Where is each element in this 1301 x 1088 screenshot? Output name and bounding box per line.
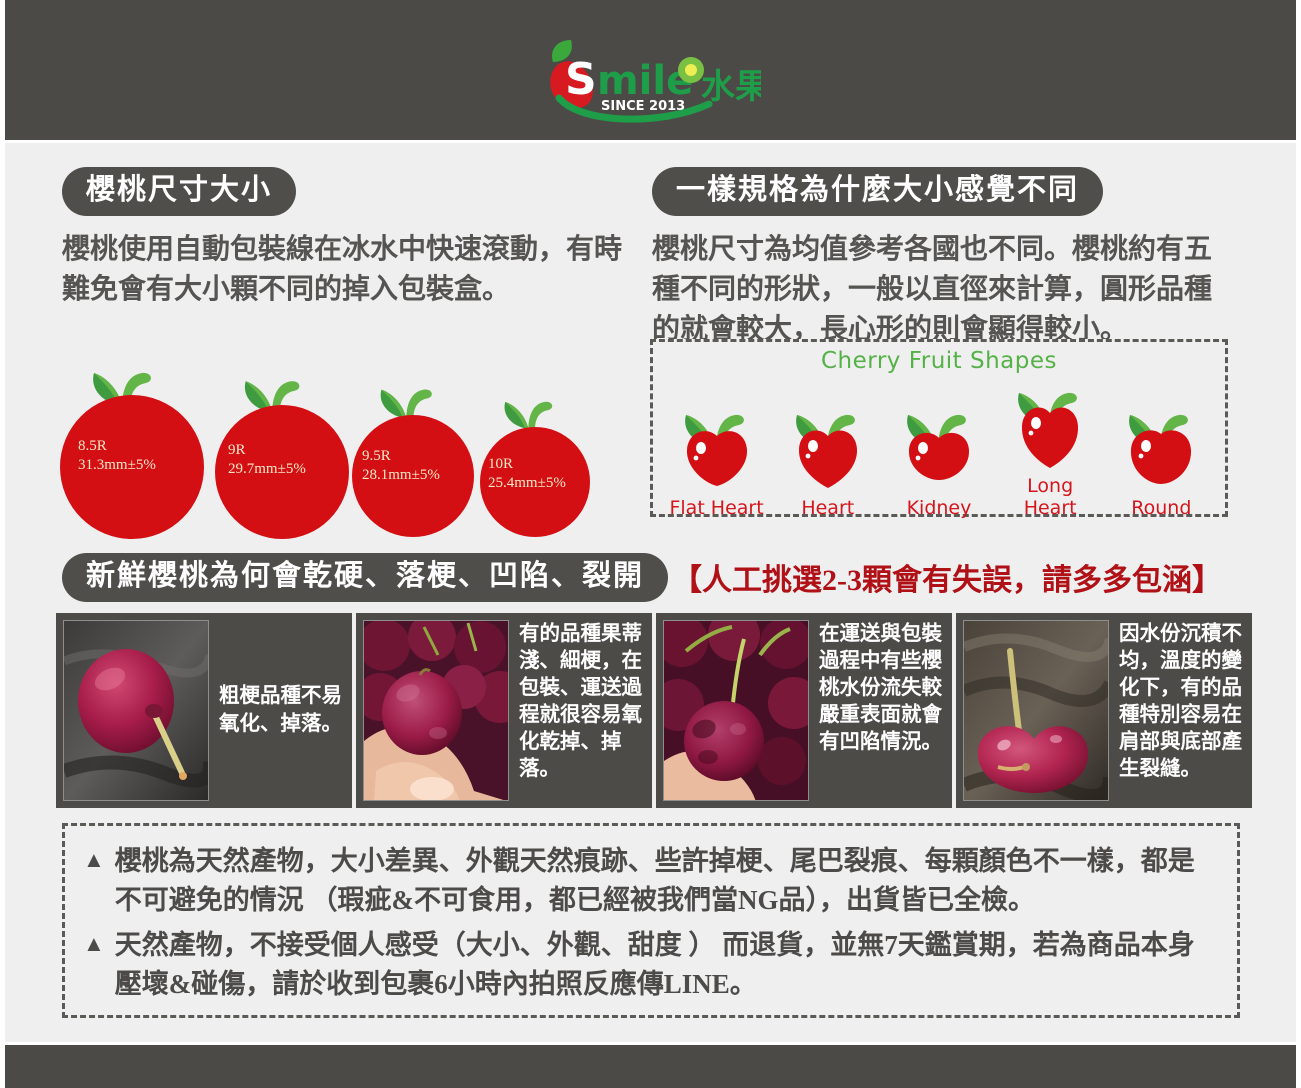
cherry-thick-stem-photo	[63, 620, 209, 801]
cherry-size-chart: 8.5R 31.3mm±5% 9R 29.7mm±5%	[60, 343, 660, 523]
defect-panel: 因水份沉積不均，溫度的變化下，有的品種特別容易在肩部與底部產生裂縫。	[956, 613, 1252, 808]
shapes-section: 一樣規格為什麼大小感覺不同 櫻桃尺寸為均值參考各國也不同。櫻桃約有五種不同的形狀…	[652, 167, 1232, 350]
disclaimer-item: ▲ 天然產物，不接受個人感受（大小、外觀、甜度 ） 而退貨，並無7天鑑賞期，若為…	[83, 926, 1217, 1004]
footer-band	[0, 1042, 1301, 1088]
svg-text:水果: 水果	[701, 67, 761, 107]
shape-label-kidney: Kidney	[889, 497, 989, 519]
defect-panel-caption: 粗梗品種不易氧化、掉落。	[209, 613, 352, 808]
size-section: 櫻桃尺寸大小 櫻桃使用自動包裝線在冰水中快速滾動，有時難免會有大小顆不同的掉入包…	[62, 167, 642, 310]
shapes-section-paragraph: 櫻桃尺寸為均值參考各國也不同。櫻桃約有五種不同的形狀，一般以直徑來計算，圓形品種…	[652, 230, 1232, 349]
shape-label-heart: Heart	[778, 497, 878, 519]
defect-panel: 在運送與包裝過程中有些櫻桃水份流失較嚴重表面就會有凹陷情況。	[656, 613, 952, 808]
shapes-section-heading: 一樣規格為什麼大小感覺不同	[652, 167, 1103, 216]
cherry-shapes-box: Cherry Fruit Shapes Flat Heart	[650, 339, 1228, 517]
shape-item-long-heart: Long Heart	[1000, 376, 1100, 519]
shape-item-round: Round	[1111, 398, 1211, 519]
triangle-bullet-icon: ▲	[83, 926, 105, 1004]
defect-panels: 粗梗品種不易氧化、掉落。	[56, 613, 1252, 808]
svg-text:mile: mile	[597, 58, 693, 104]
size-label-3: 10R 25.4mm±5%	[488, 455, 566, 493]
manual-selection-warning: 【人工挑選2-3顆會有失誤，請多多包涵】	[672, 555, 1222, 599]
cherry-dented-photo	[663, 620, 809, 801]
frame-left-edge	[0, 0, 5, 1088]
size-label-1: 9R 29.7mm±5%	[228, 441, 306, 479]
size-label-2: 9.5R 28.1mm±5%	[362, 447, 440, 485]
shape-label-long-heart: Long Heart	[1000, 475, 1100, 519]
cherry-shapes-row: Flat Heart Heart	[653, 376, 1225, 519]
smile-fruit-logo: S mile 水果 SINCE 2013	[541, 32, 761, 124]
svg-text:SINCE 2013: SINCE 2013	[601, 99, 685, 114]
defects-section-heading: 新鮮櫻桃為何會乾硬、落梗、凹陷、裂開	[62, 553, 668, 602]
defect-panel-caption: 有的品種果蒂淺、細梗，在包裝、運送過程就很容易氧化乾掉、掉落。	[509, 613, 652, 808]
shape-item-kidney: Kidney	[889, 398, 989, 519]
defect-panel: 有的品種果蒂淺、細梗，在包裝、運送過程就很容易氧化乾掉、掉落。	[356, 613, 652, 808]
defect-panel-caption: 因水份沉積不均，溫度的變化下，有的品種特別容易在肩部與底部產生裂縫。	[1109, 613, 1252, 808]
size-section-paragraph: 櫻桃使用自動包裝線在冰水中快速滾動，有時難免會有大小顆不同的掉入包裝盒。	[62, 230, 642, 310]
shape-label-round: Round	[1111, 497, 1211, 519]
cherry-long-heart-icon	[1007, 376, 1093, 468]
size-label-0: 8.5R 31.3mm±5%	[78, 437, 156, 475]
disclaimer-text: 櫻桃為天然產物，大小差異、外觀天然痕跡、些許掉梗、尾巴裂痕、每顆顏色不一樣，都是…	[115, 842, 1217, 920]
cherry-heart-icon	[785, 398, 871, 490]
cherry-cracked-photo	[963, 620, 1109, 801]
disclaimer-item: ▲ 櫻桃為天然產物，大小差異、外觀天然痕跡、些許掉梗、尾巴裂痕、每顆顏色不一樣，…	[83, 842, 1217, 920]
defects-section-heading-wrap: 新鮮櫻桃為何會乾硬、落梗、凹陷、裂開	[62, 553, 668, 602]
content-area: 櫻桃尺寸大小 櫻桃使用自動包裝線在冰水中快速滾動，有時難免會有大小顆不同的掉入包…	[0, 143, 1301, 1042]
shape-label-flat-heart: Flat Heart	[667, 497, 767, 519]
cherry-flat-heart-icon	[674, 398, 760, 490]
shape-item-heart: Heart	[778, 398, 878, 519]
cherry-kidney-icon	[896, 398, 982, 490]
size-section-heading: 櫻桃尺寸大小	[62, 167, 296, 216]
disclaimer-box: ▲ 櫻桃為天然產物，大小差異、外觀天然痕跡、些許掉梗、尾巴裂痕、每顆顏色不一樣，…	[62, 823, 1240, 1018]
shape-item-flat-heart: Flat Heart	[667, 398, 767, 519]
disclaimer-text: 天然產物，不接受個人感受（大小、外觀、甜度 ） 而退貨，並無7天鑑賞期，若為商品…	[115, 926, 1217, 1004]
defect-panel: 粗梗品種不易氧化、掉落。	[56, 613, 352, 808]
triangle-bullet-icon: ▲	[83, 842, 105, 920]
frame-right-edge	[1296, 0, 1301, 1088]
cherry-round-icon	[1118, 398, 1204, 490]
infographic-page: S mile 水果 SINCE 2013 櫻桃尺寸大小 櫻桃使用自動包裝線在冰水…	[0, 0, 1301, 1088]
cherry-in-hand-photo	[363, 620, 509, 801]
svg-text:S: S	[565, 54, 597, 105]
defect-panel-caption: 在運送與包裝過程中有些櫻桃水份流失較嚴重表面就會有凹陷情況。	[809, 613, 952, 808]
cherry-shapes-title: Cherry Fruit Shapes	[653, 348, 1225, 374]
